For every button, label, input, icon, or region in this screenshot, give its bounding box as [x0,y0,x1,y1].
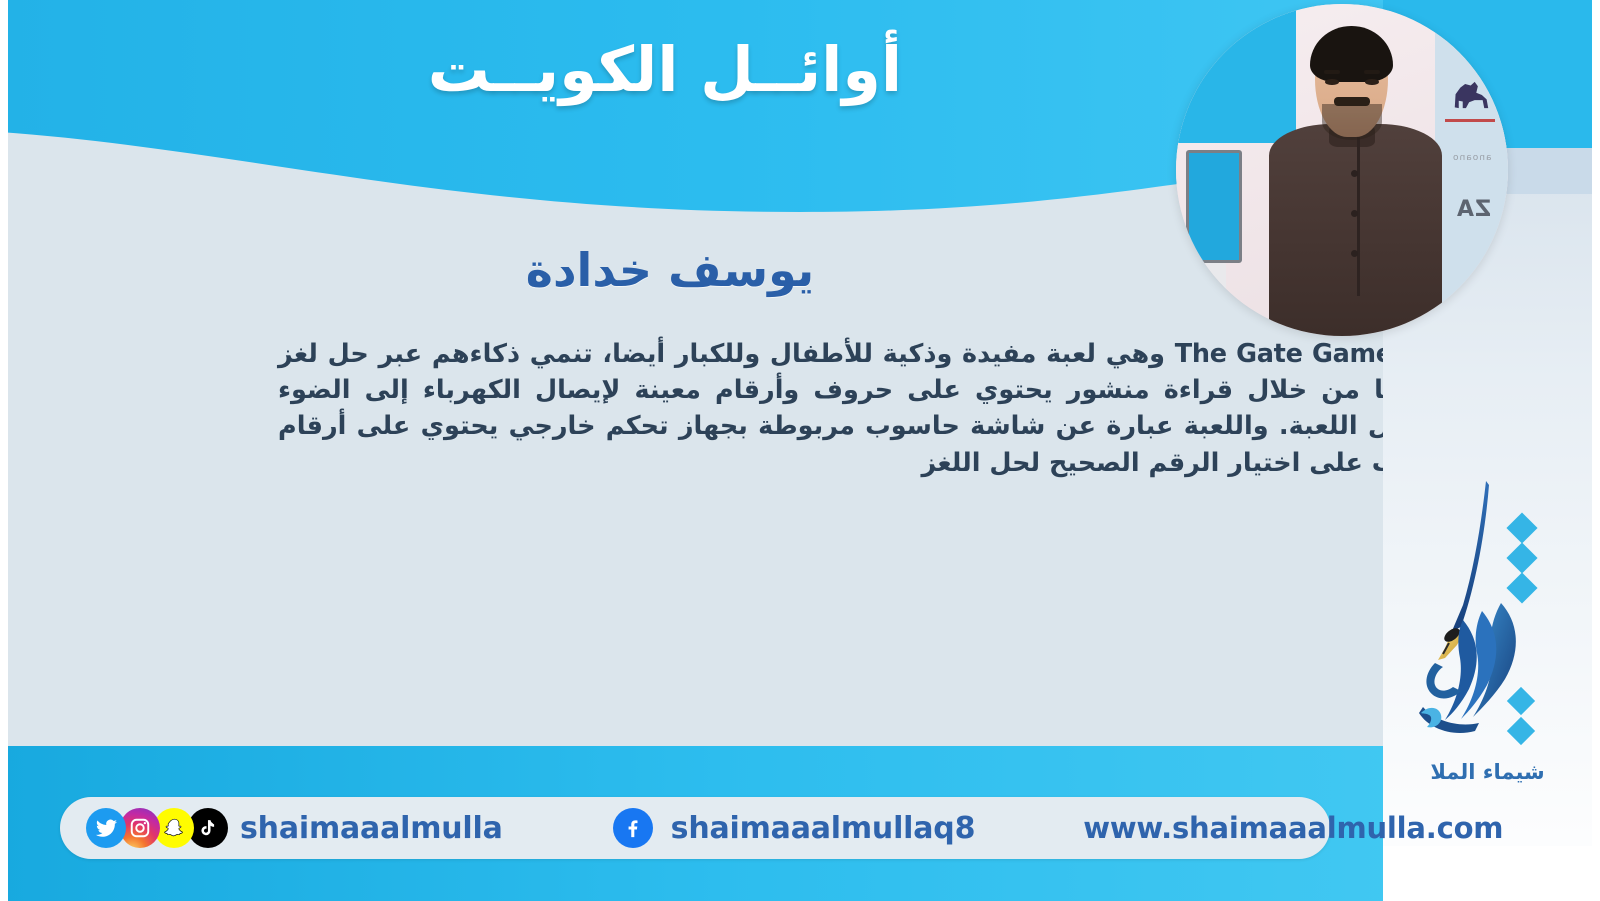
description-paragraph: مخترع لعبة The Gate Game وهي لعبة مفيدة … [278,336,1540,481]
photo-right-panel [1435,4,1508,336]
frame-edge-left [0,0,8,901]
facebook-group: shaimaaalmullaq8 [613,808,976,848]
photo-person-eye [1365,79,1378,85]
instagram-icon[interactable] [120,808,160,848]
inventor-name: يوسف خدادة [0,243,1340,297]
photo-person-thobe [1269,124,1442,336]
photo-person-button [1351,210,1358,217]
camel-logo-underline [1445,119,1495,122]
frame-edge-right [1592,0,1600,901]
brand-logo-icon [1383,455,1592,755]
social-handle-label[interactable]: shaimaaalmulla [240,811,503,846]
photo-monitor [1186,150,1242,263]
photo-monitor-stand [1203,263,1226,293]
snapchat-icon[interactable] [154,808,194,848]
product-name: The Gate Game [1175,339,1393,369]
photo-person-brow [1364,70,1381,74]
website-url-label[interactable]: www.shaimaaalmulla.com [1083,811,1503,845]
profile-photo: anoano ZA [1176,4,1508,336]
photo-person-button [1351,250,1358,257]
photo-person-beard [1322,104,1382,141]
photo-blue-panel [1176,4,1296,143]
photo-person-eye [1325,79,1338,85]
photo-backdrop-text-small: anoano [1452,153,1491,163]
poster-canvas: أوائــل الكويــت anoano ZA [0,0,1600,901]
sidebar-footer-fill [1383,846,1592,901]
tiktok-icon[interactable] [188,808,228,848]
photo-person-moustache [1334,97,1371,106]
page-title: أوائــل الكويــت [0,36,1330,104]
social-handles-group: shaimaaalmulla [86,808,503,848]
footer-contact-bar: shaimaaalmulla shaimaaalmullaq8 www.shai… [60,797,1330,859]
photo-backdrop-text-large: ZA [1456,197,1491,222]
website-group: www.shaimaaalmulla.com [1083,811,1503,845]
profile-photo-scene: anoano ZA [1176,4,1508,336]
brand-name-label: شيماء الملا [1383,760,1592,784]
facebook-handle-label[interactable]: shaimaaalmullaq8 [671,811,976,846]
twitter-icon[interactable] [86,808,126,848]
photo-person-button [1351,170,1358,177]
photo-person-placket [1357,137,1360,296]
photo-person-brow [1324,70,1341,74]
facebook-icon[interactable] [613,808,653,848]
